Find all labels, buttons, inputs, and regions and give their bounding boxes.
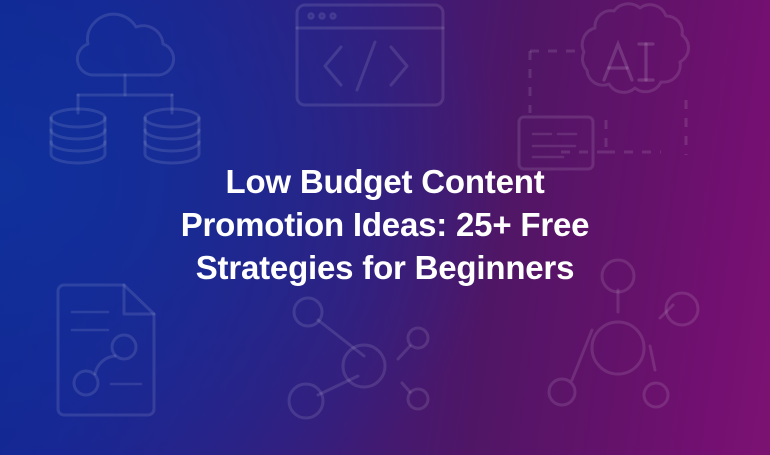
cloud-database-icon (51, 14, 199, 163)
title-line-2: Promotion Ideas: 25+ Free (70, 203, 700, 246)
title-line-1: Low Budget Content (70, 160, 700, 203)
ai-label (604, 44, 653, 80)
banner-title: Low Budget Content Promotion Ideas: 25+ … (0, 160, 770, 289)
document-nodes-icon (58, 285, 154, 415)
network-hub-icon-center (289, 298, 428, 418)
title-line-3: Strategies for Beginners (70, 246, 700, 289)
promo-banner: Low Budget Content Promotion Ideas: 25+ … (0, 0, 770, 455)
ai-brain-icon (582, 4, 688, 93)
code-window-icon (297, 5, 443, 105)
